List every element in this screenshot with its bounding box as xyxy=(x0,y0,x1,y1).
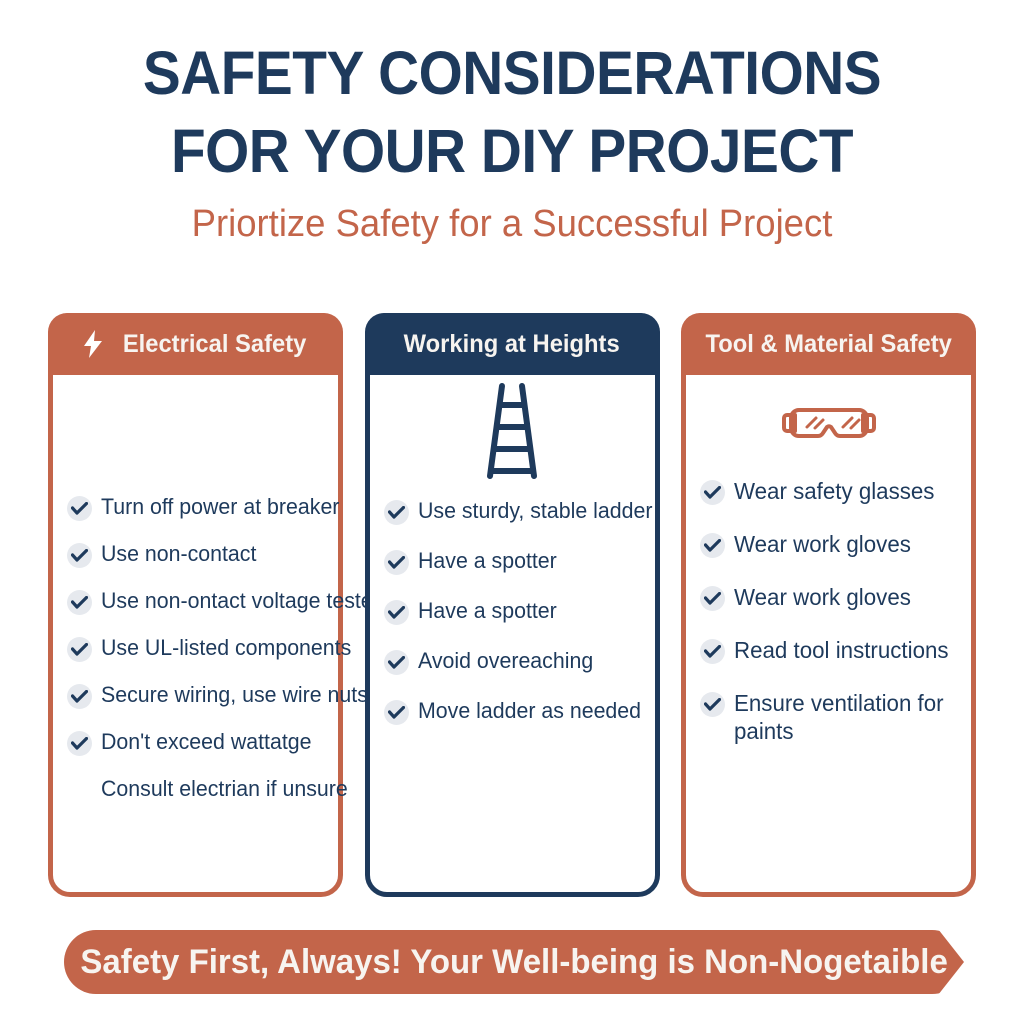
card-header-tool-material-safety: Tool & Material Safety xyxy=(681,313,976,375)
list-item[interactable]: Consult electrian if unsure xyxy=(67,775,324,803)
list-item-label: Avoid overeaching xyxy=(418,647,593,675)
list-item[interactable]: Don't exceed wattatge xyxy=(67,728,324,756)
checklist-electrical-safety: Turn off power at breaker Use non-contac… xyxy=(67,493,324,803)
footer-banner: Safety First, Always! Your Well-being is… xyxy=(64,930,964,994)
list-item[interactable]: Use non-ontact voltage tester xyxy=(67,587,324,615)
list-item[interactable]: Move ladder as needed xyxy=(384,697,641,725)
list-item-label: Have a spotter xyxy=(418,597,557,625)
card-body-electrical-safety: Turn off power at breaker Use non-contac… xyxy=(53,375,338,892)
list-item-label: Turn off power at breaker xyxy=(101,493,339,521)
list-item[interactable]: Secure wiring, use wire nuts xyxy=(67,681,324,709)
card-electrical-safety[interactable]: Electrical Safety Turn off power at brea… xyxy=(48,313,343,897)
card-header-working-at-heights: Working at Heights xyxy=(365,313,660,375)
card-tool-material-safety[interactable]: Tool & Material Safety xyxy=(681,313,976,897)
check-icon xyxy=(700,692,725,717)
list-item[interactable]: Use non-contact xyxy=(67,540,324,568)
list-item[interactable]: Have a spotter xyxy=(384,547,641,575)
check-icon xyxy=(700,533,725,558)
list-item[interactable]: Use UL-listed components xyxy=(67,634,324,662)
list-item-label: Secure wiring, use wire nuts xyxy=(101,681,368,709)
check-icon-placeholder xyxy=(67,778,92,803)
card-icon-slot-electrical xyxy=(67,375,324,487)
list-item[interactable]: Ensure ventilation for paints xyxy=(700,689,957,745)
footer-banner-text: Safety First, Always! Your Well-being is… xyxy=(80,943,947,982)
page-subtitle: Priortize Safety for a Successful Projec… xyxy=(20,202,1003,246)
card-title-working-at-heights: Working at Heights xyxy=(404,330,620,359)
check-icon xyxy=(67,684,92,709)
list-item-label: Use non-ontact voltage tester xyxy=(101,587,380,615)
list-item[interactable]: Have a spotter xyxy=(384,597,641,625)
ladder-icon xyxy=(384,375,641,487)
list-item-label: Ensure ventilation for paints xyxy=(734,689,950,745)
list-item-label: Use non-contact xyxy=(101,540,256,568)
check-icon xyxy=(67,543,92,568)
check-icon xyxy=(384,550,409,575)
list-item[interactable]: Read tool instructions xyxy=(700,636,957,664)
card-title-tool-material-safety: Tool & Material Safety xyxy=(705,330,951,359)
check-icon xyxy=(67,590,92,615)
list-item-label: Wear work gloves xyxy=(734,583,911,611)
list-item[interactable]: Wear safety glasses xyxy=(700,477,957,505)
card-working-at-heights[interactable]: Working at Heights xyxy=(365,313,660,897)
page-header: SAFETY CONSIDERATIONS FOR YOUR DIY PROJE… xyxy=(0,34,1024,246)
list-item-label: Consult electrian if unsure xyxy=(101,775,348,803)
list-item[interactable]: Wear work gloves xyxy=(700,583,957,611)
page-title: SAFETY CONSIDERATIONS FOR YOUR DIY PROJE… xyxy=(36,34,988,190)
list-item-label: Use sturdy, stable ladder xyxy=(418,497,652,525)
safety-cards-row: Electrical Safety Turn off power at brea… xyxy=(48,313,976,897)
list-item[interactable]: Turn off power at breaker xyxy=(67,493,324,521)
list-item-label: Have a spotter xyxy=(418,547,557,575)
check-icon xyxy=(384,600,409,625)
list-item-label: Use UL-listed components xyxy=(101,634,351,662)
check-icon xyxy=(384,700,409,725)
list-item[interactable]: Wear work gloves xyxy=(700,530,957,558)
card-title-electrical-safety: Electrical Safety xyxy=(123,330,307,359)
card-body-tool-material-safety: Wear safety glasses Wear work gloves Wea… xyxy=(686,375,971,892)
check-icon xyxy=(384,650,409,675)
check-icon xyxy=(67,496,92,521)
list-item-label: Wear safety glasses xyxy=(734,477,934,505)
check-icon xyxy=(67,637,92,662)
checklist-working-at-heights: Use sturdy, stable ladder Have a spotter… xyxy=(384,497,641,725)
check-icon xyxy=(700,480,725,505)
list-item[interactable]: Avoid overeaching xyxy=(384,647,641,675)
list-item[interactable]: Use sturdy, stable ladder xyxy=(384,497,641,525)
check-icon xyxy=(67,731,92,756)
card-body-working-at-heights: Use sturdy, stable ladder Have a spotter… xyxy=(370,375,655,892)
safety-goggles-icon xyxy=(700,375,957,471)
card-header-electrical-safety: Electrical Safety xyxy=(48,313,343,375)
list-item-label: Don't exceed wattatge xyxy=(101,728,312,756)
check-icon xyxy=(700,586,725,611)
checklist-tool-material-safety: Wear safety glasses Wear work gloves Wea… xyxy=(700,477,957,745)
check-icon xyxy=(700,639,725,664)
list-item-label: Read tool instructions xyxy=(734,636,949,664)
lightning-bolt-icon xyxy=(80,329,106,359)
list-item-label: Move ladder as needed xyxy=(418,697,641,725)
list-item-label: Wear work gloves xyxy=(734,530,911,558)
check-icon xyxy=(384,500,409,525)
